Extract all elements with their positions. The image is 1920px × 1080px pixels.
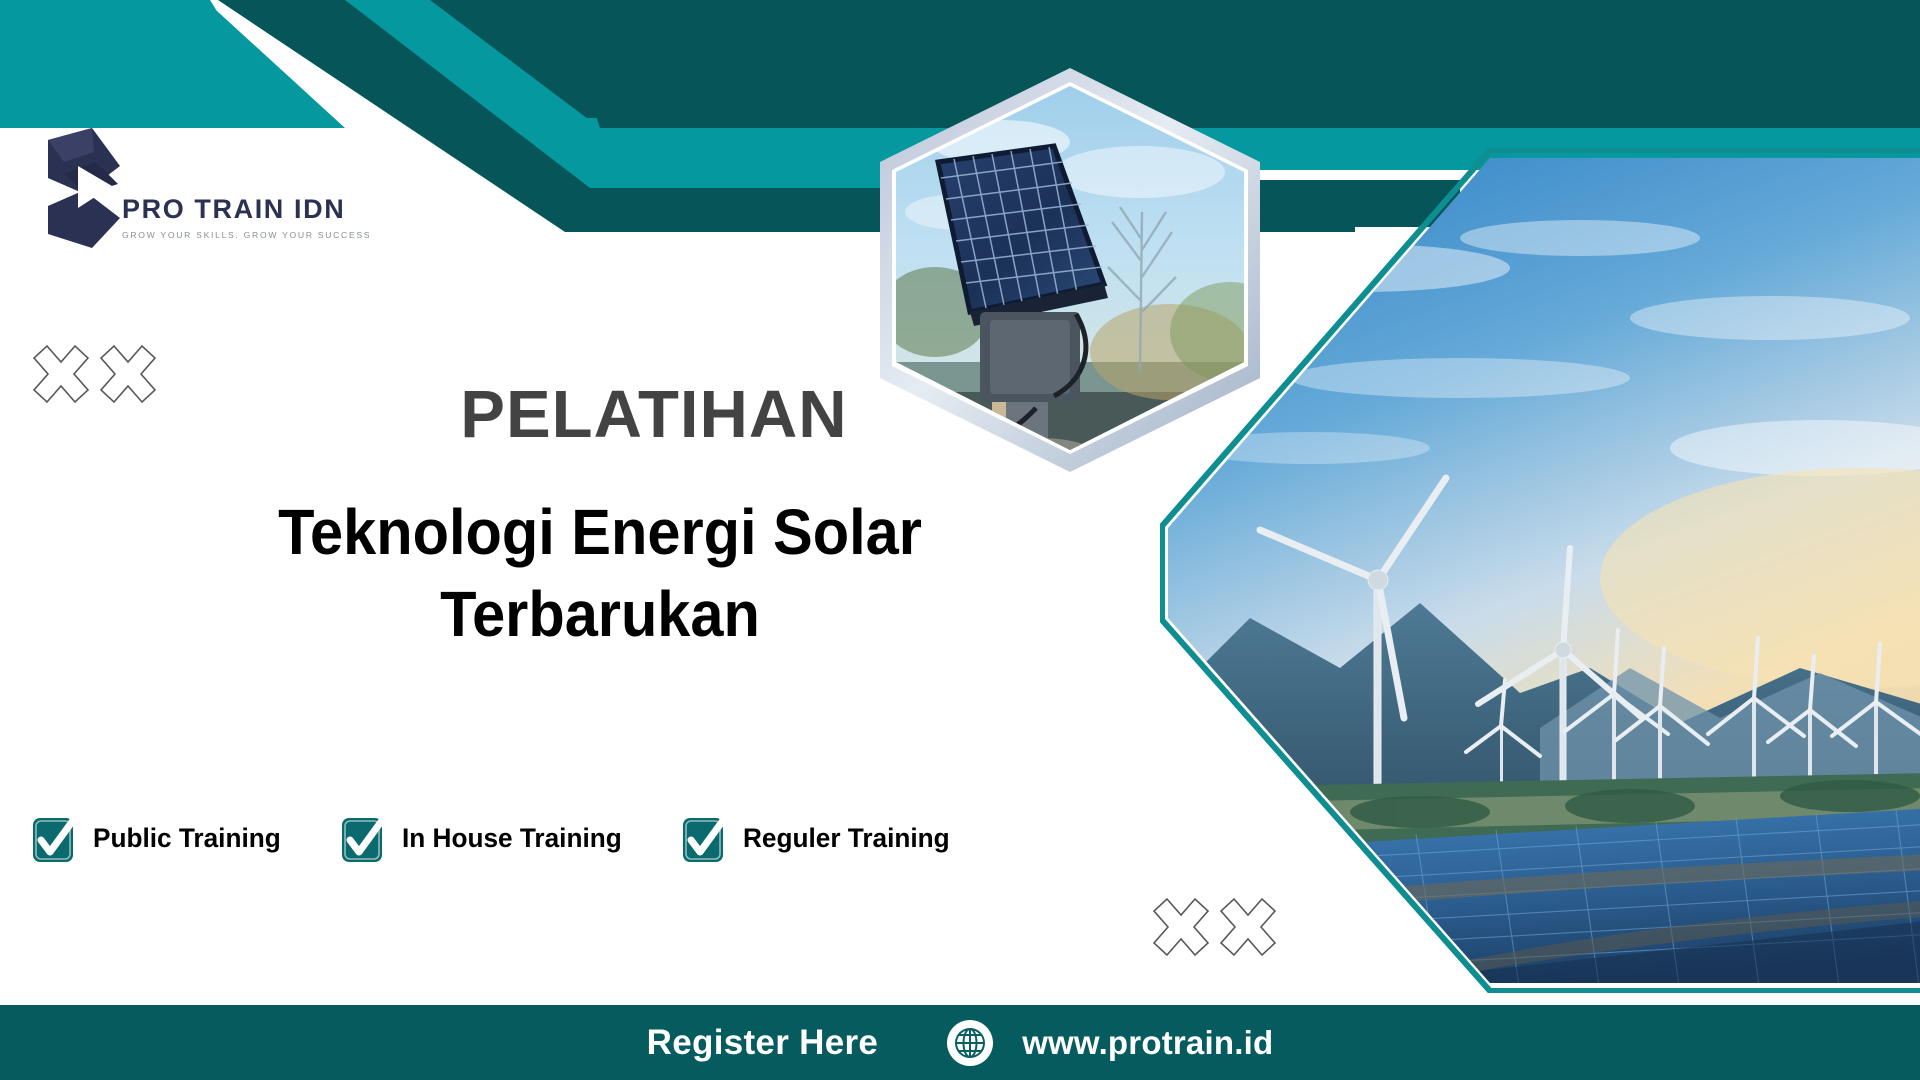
kicker-heading: PELATIHAN (394, 376, 914, 453)
poster-canvas: PRO TRAIN IDN GROW YOUR SKILLS. GROW YOU… (0, 0, 1920, 1080)
x-decoration-group-left (30, 342, 160, 412)
checkbox-checked-icon[interactable] (339, 812, 388, 864)
training-option-item[interactable]: In House Training (339, 812, 629, 864)
title-line-1: Teknologi Energi Solar (182, 492, 1019, 574)
training-option-label: Reguler Training (743, 823, 950, 854)
hex-big-photo-content (1160, 148, 1920, 993)
training-options-list: Public Training In House Training Re (30, 812, 956, 864)
page-title: Teknologi Energi Solar Terbarukan (182, 492, 1019, 656)
website-url[interactable]: www.protrain.id (1022, 1024, 1273, 1062)
title-line-2: Terbarukan (182, 574, 1019, 656)
training-option-item[interactable]: Reguler Training (680, 812, 956, 864)
hex-image-renewable-landscape (1160, 148, 1920, 993)
training-option-label: In House Training (402, 823, 622, 854)
register-here-label: Register Here (647, 1023, 879, 1063)
checkbox-checked-icon[interactable] (30, 812, 79, 864)
footer-bar: Register Here www.protrain.id (0, 1005, 1920, 1080)
logo-text-block: PRO TRAIN IDN GROW YOUR SKILLS. GROW YOU… (122, 194, 382, 240)
brand-logo[interactable]: PRO TRAIN IDN GROW YOUR SKILLS. GROW YOU… (34, 122, 374, 272)
globe-icon (946, 1019, 994, 1067)
checkbox-checked-icon[interactable] (680, 812, 729, 864)
pro-train-arrow-logo-icon (34, 122, 126, 252)
x-cross-outline-icon (101, 346, 155, 402)
logo-name: PRO TRAIN IDN (122, 194, 382, 225)
x-cross-outline-icon (34, 346, 88, 402)
logo-tagline: GROW YOUR SKILLS. GROW YOUR SUCCESS (122, 230, 382, 240)
training-option-label: Public Training (93, 823, 281, 854)
training-option-item[interactable]: Public Training (30, 812, 287, 864)
